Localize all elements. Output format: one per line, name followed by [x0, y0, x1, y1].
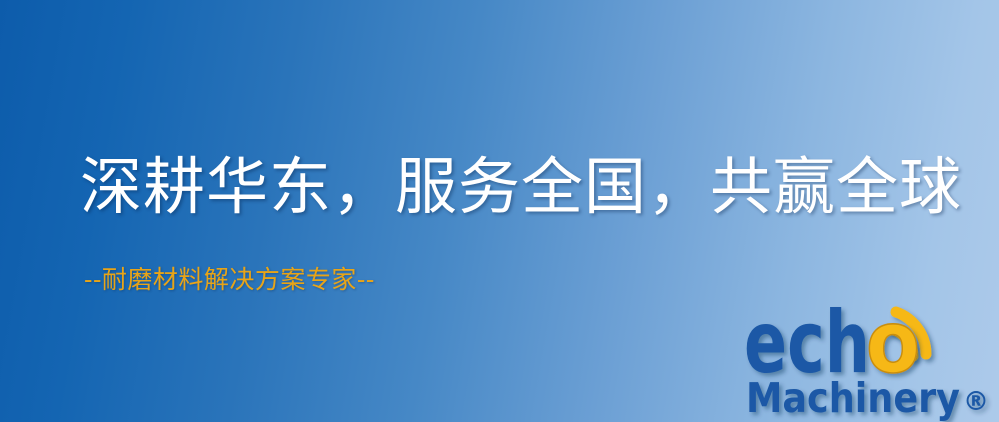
trademark-symbol: ® [963, 387, 989, 417]
logo-tagline: Machinery [746, 374, 960, 422]
brand-logo[interactable]: ech o Machinery ® [744, 296, 994, 418]
promo-banner: 深耕华东，服务全国，共赢全球 --耐磨材料解决方案专家-- ech o Mach… [0, 0, 999, 422]
page-subtitle: --耐磨材料解决方案专家-- [84, 265, 375, 295]
page-title: 深耕华东，服务全国，共赢全球 [80, 151, 962, 223]
